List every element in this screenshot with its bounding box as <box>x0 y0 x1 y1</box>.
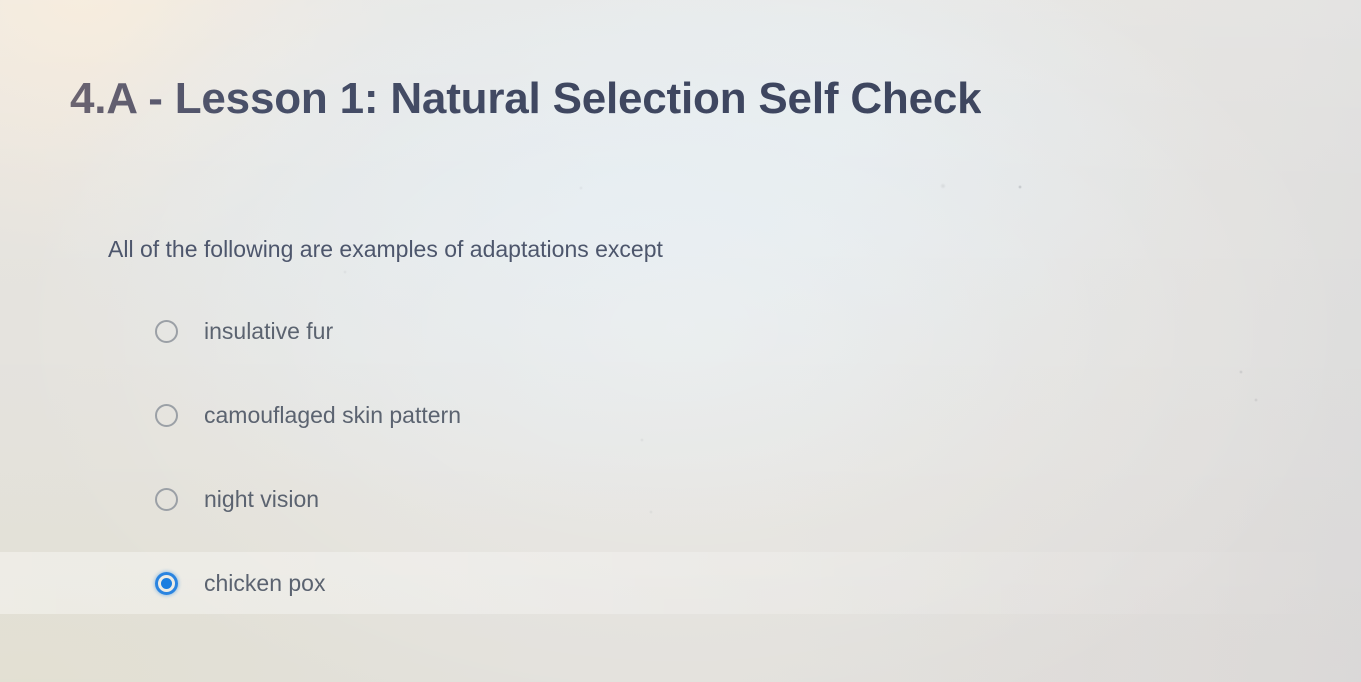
quiz-title: 4.A - Lesson 1: Natural Selection Self C… <box>70 77 981 121</box>
quiz-screen-photo: 4.A - Lesson 1: Natural Selection Self C… <box>0 0 1361 682</box>
answer-option-camouflaged-skin-pattern[interactable]: camouflaged skin pattern <box>0 384 1361 446</box>
answer-option-label: camouflaged skin pattern <box>204 404 461 427</box>
answer-option-insulative-fur[interactable]: insulative fur <box>0 300 1361 362</box>
radio-unselected-icon[interactable] <box>155 404 178 427</box>
question-prompt: All of the following are examples of ada… <box>108 236 663 264</box>
radio-dot <box>161 578 172 589</box>
quiz-content: 4.A - Lesson 1: Natural Selection Self C… <box>0 0 1361 682</box>
answer-option-chicken-pox[interactable]: chicken pox <box>0 552 1361 614</box>
radio-selected-icon[interactable] <box>155 572 178 595</box>
radio-unselected-icon[interactable] <box>155 488 178 511</box>
answer-option-label: chicken pox <box>204 572 325 595</box>
answer-option-label: insulative fur <box>204 320 333 343</box>
radio-unselected-icon[interactable] <box>155 320 178 343</box>
answer-option-label: night vision <box>204 488 319 511</box>
answer-option-night-vision[interactable]: night vision <box>0 468 1361 530</box>
answer-options-group: insulative fur camouflaged skin pattern … <box>0 300 1361 614</box>
